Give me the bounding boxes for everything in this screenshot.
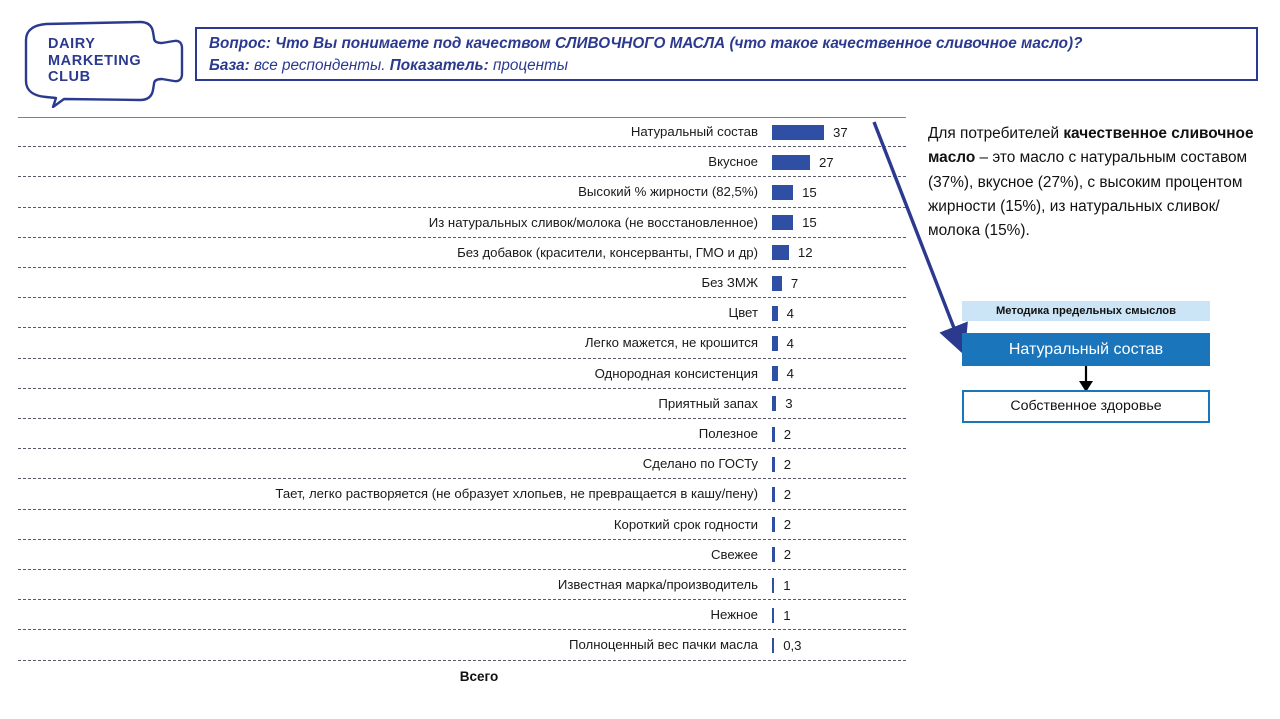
question-header-box: Вопрос: Что Вы понимаете под качеством С… — [195, 27, 1258, 81]
diagram-node-natural[interactable]: Натуральный состав — [962, 333, 1210, 366]
question-label: Вопрос: — [209, 35, 271, 52]
chart-row-label: Сделано по ГОСТу — [643, 456, 758, 471]
laddering-diagram: Методика предельных смыслов Натуральный … — [962, 301, 1210, 415]
chart-bar — [772, 125, 824, 140]
metric-text: проценты — [493, 57, 568, 74]
chart-bar — [772, 276, 782, 291]
chart-bar-value: 2 — [784, 487, 791, 502]
diagram-method-label: Методика предельных смыслов — [962, 301, 1210, 321]
chart-footer-total: Всего — [18, 669, 906, 684]
chart-bar-value: 4 — [787, 336, 794, 351]
diagram-node-health[interactable]: Собственное здоровье — [962, 390, 1210, 423]
chart-bar — [772, 638, 774, 653]
question-text: Что Вы понимаете под качеством СЛИВОЧНОГ… — [275, 35, 1082, 52]
chart-row: Нежное1 — [18, 600, 906, 630]
base-metric-line: База: все респонденты. Показатель: проце… — [209, 57, 568, 75]
chart-row: Натуральный состав37 — [18, 117, 906, 147]
chart-row-label: Легко мажется, не крошится — [585, 335, 758, 350]
logo-line-2: MARKETING — [48, 53, 141, 70]
chart-row: Полноценный вес пачки масла0,3 — [18, 630, 906, 660]
chart-row: Тает, легко растворяется (не образует хл… — [18, 479, 906, 509]
diagram-down-arrow-icon — [1074, 366, 1098, 392]
chart-row: Сделано по ГОСТу2 — [18, 449, 906, 479]
chart-row: Приятный запах3 — [18, 389, 906, 419]
question-line: Вопрос: Что Вы понимаете под качеством С… — [209, 35, 1082, 53]
chart-row: Цвет4 — [18, 298, 906, 328]
chart-bar-value: 2 — [784, 517, 791, 532]
chart-row-label: Натуральный состав — [631, 124, 758, 139]
chart-row: Полезное2 — [18, 419, 906, 449]
chart-row-label: Нежное — [711, 607, 758, 622]
insight-part-2: – это масло с натуральным составом (37%)… — [928, 149, 1247, 239]
chart-bar-value: 12 — [798, 245, 813, 260]
horizontal-bar-chart: Натуральный состав37Вкусное27Высокий % ж… — [18, 117, 906, 665]
chart-bar-value: 1 — [783, 578, 790, 593]
chart-bar-value: 2 — [784, 457, 791, 472]
chart-row-label: Цвет — [728, 305, 758, 320]
chart-bar — [772, 215, 793, 230]
chart-row-label: Тает, легко растворяется (не образует хл… — [275, 486, 758, 501]
chart-row-separator — [18, 660, 906, 661]
chart-row-label: Короткий срок годности — [614, 517, 758, 532]
logo-wordmark: DAIRY MARKETING CLUB — [48, 36, 141, 86]
chart-row: Без ЗМЖ7 — [18, 268, 906, 298]
chart-bar-value: 4 — [787, 366, 794, 381]
chart-row-label: Однородная консистенция — [595, 366, 758, 381]
chart-row-label: Без ЗМЖ — [701, 275, 758, 290]
logo-line-1: DAIRY — [48, 36, 141, 53]
chart-bar — [772, 547, 775, 562]
chart-row-label: Свежее — [711, 547, 758, 562]
chart-row-label: Из натуральных сливок/молока (не восстан… — [429, 215, 758, 230]
chart-bar — [772, 396, 776, 411]
chart-bar — [772, 245, 789, 260]
base-label: База: — [209, 57, 250, 74]
chart-bar — [772, 427, 775, 442]
chart-bar — [772, 366, 778, 381]
chart-bar-value: 3 — [785, 396, 792, 411]
chart-row-label: Высокий % жирности (82,5%) — [578, 184, 758, 199]
chart-row-label: Известная марка/производитель — [558, 577, 758, 592]
chart-bar — [772, 487, 775, 502]
chart-bar — [772, 185, 793, 200]
chart-bar-value: 37 — [833, 125, 848, 140]
chart-row: Из натуральных сливок/молока (не восстан… — [18, 208, 906, 238]
chart-bar-value: 2 — [784, 427, 791, 442]
chart-bar-value: 0,3 — [783, 638, 801, 653]
chart-bar-value: 27 — [819, 155, 834, 170]
base-text: все респонденты. — [254, 57, 386, 74]
insight-paragraph: Для потребителей качественное сливочное … — [928, 122, 1258, 243]
chart-bar-value: 15 — [802, 185, 817, 200]
chart-bar — [772, 155, 810, 170]
chart-bar-value: 7 — [791, 276, 798, 291]
metric-label: Показатель: — [390, 57, 489, 74]
chart-bar — [772, 336, 778, 351]
chart-row-label: Вкусное — [708, 154, 758, 169]
chart-bar — [772, 457, 775, 472]
chart-row: Вкусное27 — [18, 147, 906, 177]
chart-row: Однородная консистенция4 — [18, 359, 906, 389]
chart-row: Легко мажется, не крошится4 — [18, 328, 906, 358]
chart-bar — [772, 517, 775, 532]
chart-bar — [772, 306, 778, 321]
chart-bar-value: 4 — [787, 306, 794, 321]
dairy-marketing-club-logo: DAIRY MARKETING CLUB — [12, 16, 184, 108]
chart-bar — [772, 578, 774, 593]
chart-row: Короткий срок годности2 — [18, 510, 906, 540]
chart-bar-value: 15 — [802, 215, 817, 230]
chart-bar-value: 1 — [783, 608, 790, 623]
chart-row: Свежее2 — [18, 540, 906, 570]
chart-row-label: Полноценный вес пачки масла — [569, 637, 758, 652]
chart-bar-value: 2 — [784, 547, 791, 562]
chart-row: Без добавок (красители, консерванты, ГМО… — [18, 238, 906, 268]
chart-row: Высокий % жирности (82,5%)15 — [18, 177, 906, 207]
chart-row-label: Полезное — [699, 426, 758, 441]
chart-row-label: Без добавок (красители, консерванты, ГМО… — [457, 245, 758, 260]
insight-part-1: Для потребителей — [928, 125, 1063, 142]
logo-line-3: CLUB — [48, 69, 141, 86]
chart-row: Известная марка/производитель1 — [18, 570, 906, 600]
chart-row-label: Приятный запах — [658, 396, 758, 411]
chart-bar — [772, 608, 774, 623]
total-text: Всего — [460, 669, 498, 684]
